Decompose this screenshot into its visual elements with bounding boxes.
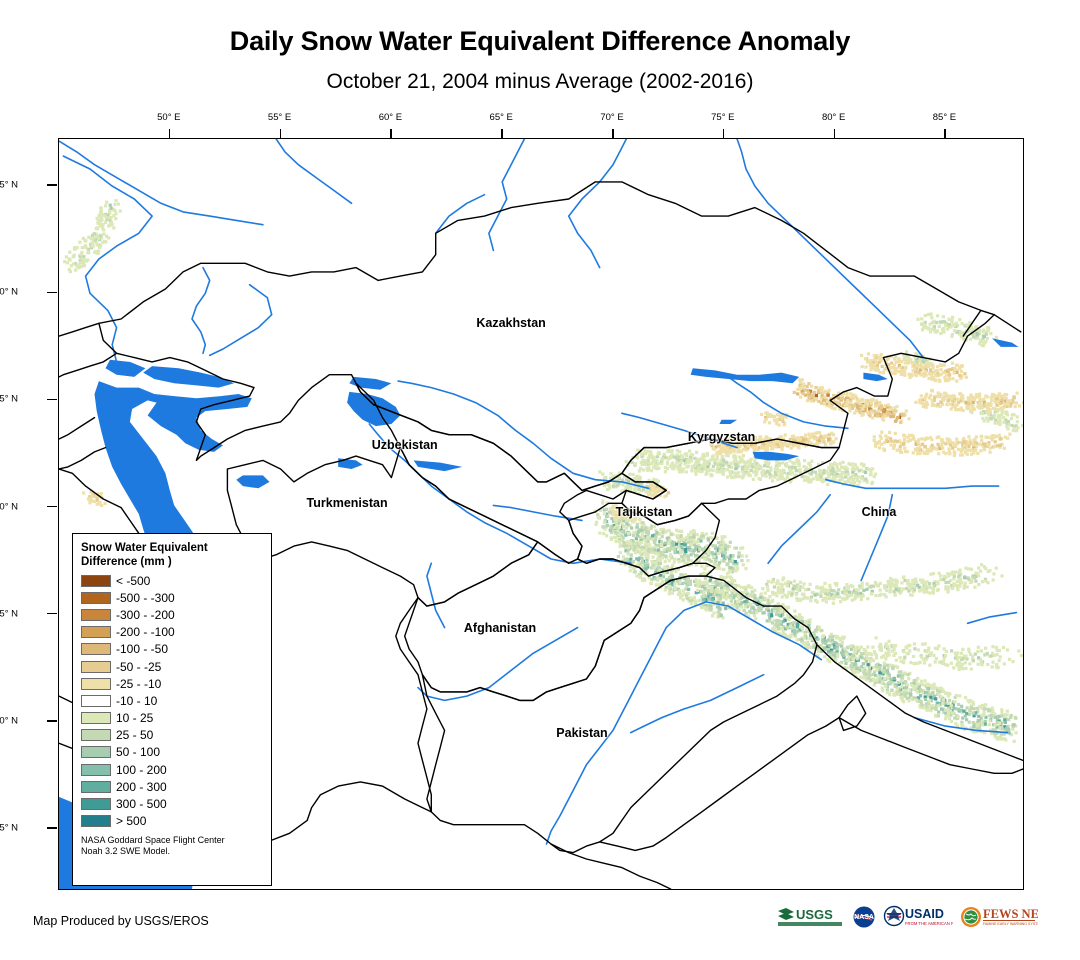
lon-tick-75 <box>723 129 725 138</box>
lat-label-25: 25° N <box>0 823 18 834</box>
lon-tick-50 <box>169 129 171 138</box>
legend-swatch <box>81 729 111 741</box>
lat-tick-35 <box>47 613 57 615</box>
legend-label: -100 - -50 <box>116 643 168 655</box>
legend-title: Snow Water Equivalent Difference (mm ) <box>81 541 263 569</box>
lon-label-55: 55° E <box>268 112 291 123</box>
legend-row: -100 - -50 <box>81 641 263 658</box>
legend-swatch <box>81 798 111 810</box>
legend-row: 200 - 300 <box>81 778 263 795</box>
legend-label: -25 - -10 <box>116 678 161 690</box>
lon-label-85: 85° E <box>933 112 956 123</box>
lat-label-55: 55° N <box>0 180 18 191</box>
fewsnet-logo: FEWS NET FAMINE EARLY WARNING SYSTEMS NE… <box>960 904 1038 930</box>
legend-class-list: < -500-500 - -300-300 - -200-200 - -100-… <box>81 572 263 830</box>
usgs-logo: USGS <box>777 904 845 930</box>
legend-label: 100 - 200 <box>116 764 167 776</box>
usaid-logo: USAID FROM THE AMERICAN PEOPLE <box>883 904 953 930</box>
lat-label-45: 45° N <box>0 394 18 405</box>
legend-label: -500 - -300 <box>116 592 175 604</box>
lat-label-30: 30° N <box>0 715 18 726</box>
legend-title-line2: Difference (mm ) <box>81 555 263 569</box>
legend-row: -25 - -10 <box>81 675 263 692</box>
legend-title-line1: Snow Water Equivalent <box>81 541 263 555</box>
lat-tick-40 <box>47 506 57 508</box>
nasa-logo: NASA <box>852 904 876 930</box>
legend-swatch <box>81 609 111 621</box>
legend-label: -200 - -100 <box>116 626 175 638</box>
lon-tick-55 <box>280 129 282 138</box>
legend-row: -10 - 10 <box>81 692 263 709</box>
lon-label-75: 75° E <box>711 112 734 123</box>
lat-tick-45 <box>47 399 57 401</box>
legend-source-note: NASA Goddard Space Flight Center Noah 3.… <box>81 835 263 857</box>
legend-swatch <box>81 643 111 655</box>
lat-tick-55 <box>47 184 57 186</box>
legend-row: 25 - 50 <box>81 727 263 744</box>
legend-swatch <box>81 764 111 776</box>
lon-label-65: 65° E <box>490 112 513 123</box>
lon-label-80: 80° E <box>822 112 845 123</box>
agency-logos: USGS NASA USAID FROM THE AMERICAN PEOPLE… <box>777 903 1038 931</box>
lon-tick-80 <box>834 129 836 138</box>
legend-swatch <box>81 781 111 793</box>
legend-label: > 500 <box>116 815 146 827</box>
legend-swatch <box>81 695 111 707</box>
legend-label: -300 - -200 <box>116 609 175 621</box>
legend-swatch <box>81 815 111 827</box>
legend-swatch <box>81 575 111 587</box>
legend-row: -50 - -25 <box>81 658 263 675</box>
legend-label: -10 - 10 <box>116 695 157 707</box>
lat-tick-30 <box>47 720 57 722</box>
lon-tick-65 <box>501 129 503 138</box>
lon-label-50: 50° E <box>157 112 180 123</box>
page-title: Daily Snow Water Equivalent Difference A… <box>0 26 1080 57</box>
legend-row: < -500 <box>81 572 263 589</box>
legend-label: 50 - 100 <box>116 746 160 758</box>
legend-label: -50 - -25 <box>116 661 161 673</box>
legend-label: 10 - 25 <box>116 712 153 724</box>
legend-row: -200 - -100 <box>81 624 263 641</box>
lat-tick-50 <box>47 292 57 294</box>
legend-source-line2: Noah 3.2 SWE Model. <box>81 846 263 857</box>
lon-tick-60 <box>390 129 392 138</box>
lat-label-50: 50° N <box>0 287 18 298</box>
legend-swatch <box>81 661 111 673</box>
legend-row: 50 - 100 <box>81 744 263 761</box>
lat-label-35: 35° N <box>0 608 18 619</box>
legend-swatch <box>81 712 111 724</box>
footer-credit: Map Produced by USGS/EROS <box>33 914 209 928</box>
legend-label: 300 - 500 <box>116 798 167 810</box>
legend-row: > 500 <box>81 813 263 830</box>
lon-label-70: 70° E <box>600 112 623 123</box>
legend-row: 100 - 200 <box>81 761 263 778</box>
lon-tick-70 <box>612 129 614 138</box>
legend-label: 200 - 300 <box>116 781 167 793</box>
legend-row: 300 - 500 <box>81 795 263 812</box>
legend-swatch <box>81 746 111 758</box>
lon-tick-85 <box>944 129 946 138</box>
lon-label-60: 60° E <box>379 112 402 123</box>
legend-row: -500 - -300 <box>81 589 263 606</box>
legend-swatch <box>81 678 111 690</box>
legend-row: 10 - 25 <box>81 710 263 727</box>
legend-swatch <box>81 592 111 604</box>
map-legend: Snow Water Equivalent Difference (mm ) <… <box>72 533 272 886</box>
legend-label: < -500 <box>116 575 150 587</box>
lat-label-40: 40° N <box>0 501 18 512</box>
legend-source-line1: NASA Goddard Space Flight Center <box>81 835 263 846</box>
legend-swatch <box>81 626 111 638</box>
lat-tick-25 <box>47 827 57 829</box>
legend-row: -300 - -200 <box>81 606 263 623</box>
legend-label: 25 - 50 <box>116 729 153 741</box>
page-subtitle: October 21, 2004 minus Average (2002-201… <box>0 70 1080 94</box>
